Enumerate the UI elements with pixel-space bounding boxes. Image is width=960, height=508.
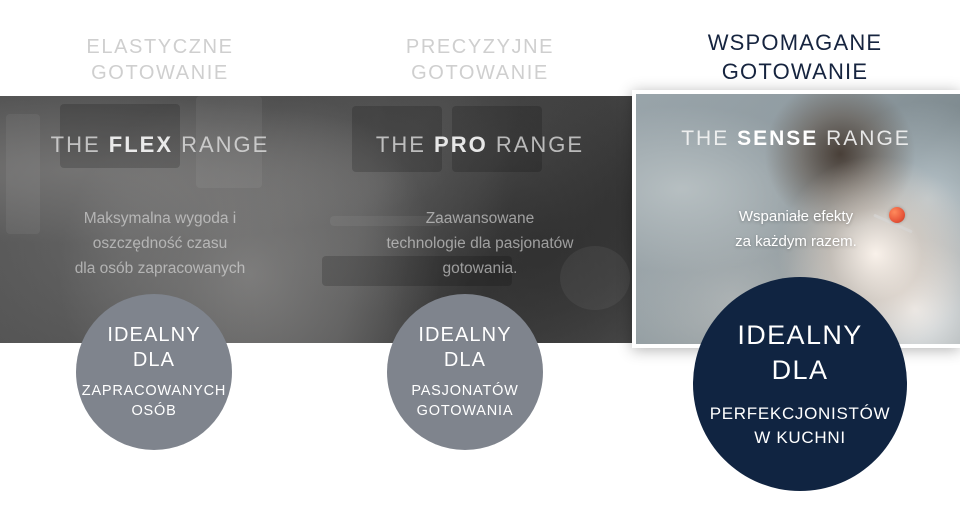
badge-subtitle: PASJONATÓW GOTOWANIA (411, 381, 518, 421)
range-title-pro: THE PRO RANGE (320, 132, 640, 158)
badge-flex[interactable]: IDEALNY DLA ZAPRACOWANYCH OSÓB (76, 294, 232, 450)
badge-sense[interactable]: IDEALNY DLA PERFEKCJONISTÓW W KUCHNI (693, 277, 907, 491)
badge-pro[interactable]: IDEALNY DLA PASJONATÓW GOTOWANIA (387, 294, 543, 450)
range-title-suffix: RANGE (173, 132, 269, 157)
badge-subtitle: ZAPRACOWANYCH OSÓB (82, 381, 226, 421)
range-title-prefix: THE (376, 132, 434, 157)
panel-heading-pro[interactable]: PRECYZYJNE GOTOWANIE (320, 34, 640, 86)
badge-title: IDEALNY DLA (418, 323, 511, 373)
range-description-sense: Wspaniałe efekty za każdym razem. (654, 204, 938, 254)
range-title-suffix: RANGE (818, 127, 911, 150)
badge-title: IDEALNY DLA (107, 323, 200, 373)
range-title-flex: THE FLEX RANGE (0, 132, 320, 158)
range-description-flex: Maksymalna wygoda i oszczędność czasu dl… (10, 206, 310, 281)
badge-subtitle: PERFEKCJONISTÓW W KUCHNI (710, 402, 891, 450)
panel-heading-sense[interactable]: WSPOMAGANE GOTOWANIE (630, 28, 960, 86)
range-title-name: FLEX (109, 132, 173, 157)
range-title-prefix: THE (681, 127, 737, 150)
badge-title: IDEALNY DLA (737, 318, 862, 388)
range-title-name: PRO (434, 132, 488, 157)
range-title-suffix: RANGE (488, 132, 584, 157)
range-title-prefix: THE (51, 132, 109, 157)
range-selector-page: ELASTYCZNE GOTOWANIE PRECYZYJNE GOTOWANI… (0, 0, 960, 508)
range-title-name: SENSE (737, 127, 818, 150)
range-description-pro: Zaawansowane technologie dla pasjonatów … (330, 206, 630, 281)
panel-heading-flex[interactable]: ELASTYCZNE GOTOWANIE (0, 34, 320, 86)
range-title-sense: THE SENSE RANGE (636, 127, 956, 151)
